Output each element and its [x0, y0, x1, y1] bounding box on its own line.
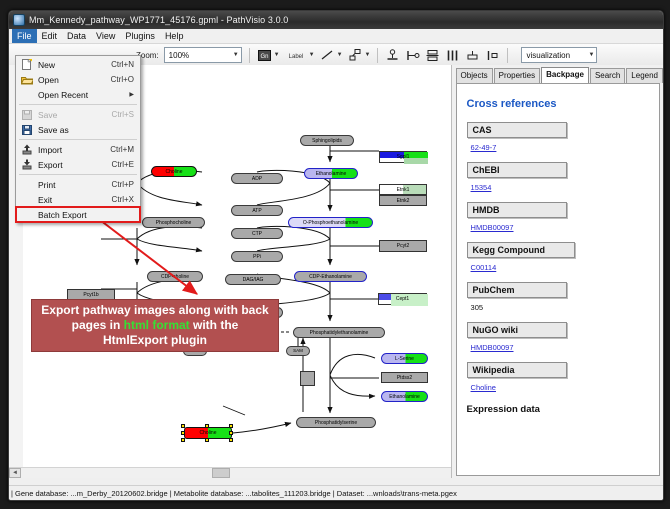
- status-text: | Gene database: ...m_Derby_20120602.bri…: [11, 489, 457, 498]
- node-choline-selected[interactable]: Choline: [184, 427, 232, 439]
- scrollbar-thumb[interactable]: [212, 468, 230, 478]
- node-label: Ptdss2: [397, 375, 412, 381]
- side-panel-tabs: Objects Properties Backpage Search Legen…: [452, 65, 663, 83]
- menu-edit[interactable]: Edit: [37, 29, 63, 43]
- side-panel: Objects Properties Backpage Search Legen…: [452, 65, 663, 478]
- node-label: Cept1: [379, 294, 426, 304]
- db-label-pubchem: PubChem: [467, 282, 567, 298]
- file-menu-item-exit[interactable]: Exit Ctrl+X: [16, 192, 140, 207]
- node-ctp[interactable]: CTP: [231, 228, 283, 239]
- node-label: ADP: [252, 176, 262, 182]
- node-label: O-Phosphoethanolamine: [303, 220, 358, 226]
- node-choline[interactable]: Choline: [151, 166, 197, 177]
- visualization-combobox[interactable]: visualization ▼: [521, 47, 597, 63]
- selection-handle[interactable]: [181, 431, 185, 435]
- file-menu-accel: Ctrl+S: [112, 110, 140, 119]
- db-value-kegg-compound[interactable]: C00114: [471, 263, 649, 272]
- db-value-cas[interactable]: 62-49-7: [471, 143, 649, 152]
- node-label: Ethanolamine: [316, 171, 347, 177]
- node-label: Phosphatidylethanolamine: [310, 330, 369, 336]
- callout-line2-b: with the: [190, 318, 239, 332]
- save-as-icon: [16, 125, 38, 135]
- callout-line2-highlight: html format: [124, 318, 190, 332]
- tab-objects[interactable]: Objects: [456, 68, 493, 83]
- chevron-down-icon: ▼: [233, 52, 239, 58]
- db-value-wikipedia[interactable]: Choline: [471, 383, 649, 392]
- tab-search[interactable]: Search: [590, 68, 625, 83]
- callout-line1: Export pathway images along with back: [41, 303, 268, 317]
- file-menu-label: Open: [38, 75, 111, 85]
- node-ptdss2[interactable]: Ptdss2: [381, 372, 428, 383]
- node-cept1[interactable]: Cept1: [378, 293, 427, 305]
- chevron-down-icon[interactable]: ▼: [337, 52, 343, 58]
- menu-separator: [19, 139, 137, 140]
- chevron-down-icon[interactable]: ▼: [309, 52, 315, 58]
- menu-file[interactable]: File: [12, 29, 37, 43]
- node-label: Pcyt1b: [83, 292, 98, 298]
- menu-data[interactable]: Data: [62, 29, 91, 43]
- file-menu-accel: Ctrl+P: [112, 180, 140, 189]
- menu-separator: [19, 104, 137, 105]
- file-menu-label: Open Recent: [38, 90, 129, 100]
- group-button[interactable]: [465, 48, 480, 63]
- file-menu-item-export[interactable]: Export Ctrl+E: [16, 157, 140, 172]
- chevron-down-icon: ▼: [589, 52, 595, 58]
- toolbar-separator: [507, 48, 508, 63]
- zoom-combobox[interactable]: 100% ▼: [164, 47, 242, 63]
- zoom-value: 100%: [169, 51, 189, 60]
- distribute-button[interactable]: [445, 48, 460, 63]
- scroll-left-arrow[interactable]: ◄: [9, 468, 21, 478]
- node-label: Etnk2: [397, 198, 410, 204]
- selection-handle[interactable]: [181, 438, 185, 442]
- line-tool-button[interactable]: [320, 48, 335, 63]
- file-menu-label: Save as: [38, 125, 134, 135]
- save-icon: [16, 110, 38, 120]
- file-menu-accel: Ctrl+N: [111, 60, 140, 69]
- node-ppi[interactable]: PPi: [231, 251, 283, 262]
- menu-bar: File Edit Data View Plugins Help: [9, 29, 663, 44]
- annotation-callout: Export pathway images along with back pa…: [31, 299, 279, 352]
- node-label: Ethanolamine: [389, 394, 420, 400]
- tab-legend[interactable]: Legend: [626, 68, 663, 83]
- pathvisio-window: Mm_Kennedy_pathway_WP1771_45176.gpml - P…: [8, 10, 664, 501]
- selection-handle[interactable]: [181, 424, 185, 428]
- open-folder-icon: [16, 75, 38, 85]
- export-icon: [16, 159, 38, 170]
- file-menu-item-print[interactable]: Print Ctrl+P: [16, 177, 140, 192]
- node-label: Etnk1: [397, 187, 410, 193]
- db-value-pubchem: 305: [471, 303, 649, 312]
- file-menu-label: Import: [38, 145, 110, 155]
- node-o-phosphoethanolamine[interactable]: O-Phosphoethanolamine: [288, 217, 373, 228]
- node-label: DAG/IAG: [243, 277, 264, 283]
- node-phosphatidylethanolamine[interactable]: Phosphatidylethanolamine: [293, 327, 385, 338]
- file-menu-item-open[interactable]: Open Ctrl+O: [16, 72, 140, 87]
- db-label-hmdb: HMDB: [467, 202, 567, 218]
- selection-handle[interactable]: [229, 431, 233, 435]
- node-anchor-block[interactable]: [300, 371, 315, 386]
- file-menu-label: Batch Export: [38, 210, 134, 220]
- node-label: Pcyt2: [397, 243, 410, 249]
- file-menu-label: Print: [38, 180, 112, 190]
- node-label: PPi: [253, 254, 261, 260]
- file-menu-label: New: [38, 60, 111, 70]
- node-sphingolipids[interactable]: Sphingolipids: [300, 135, 354, 146]
- expression-data-title: Expression data: [467, 404, 649, 415]
- node-label: Choline: [166, 169, 183, 175]
- node-phosphocholine[interactable]: Phosphocholine: [142, 217, 205, 228]
- node-l-serine[interactable]: L-Serine: [381, 353, 428, 364]
- node-ethanolamine-2[interactable]: Ethanolamine: [381, 391, 428, 402]
- selection-handle[interactable]: [205, 424, 209, 428]
- file-menu-item-new[interactable]: New Ctrl+N: [16, 57, 140, 72]
- menu-view[interactable]: View: [91, 29, 120, 43]
- file-menu-label: Save: [38, 110, 112, 120]
- node-sgpl1[interactable]: Sgpl1: [379, 151, 427, 163]
- chevron-down-icon[interactable]: ▼: [274, 52, 280, 58]
- node-etnk2[interactable]: Etnk2: [379, 195, 427, 206]
- node-adp[interactable]: ADP: [231, 173, 283, 184]
- node-label: Sgpl1: [380, 152, 426, 162]
- tab-properties[interactable]: Properties: [494, 68, 540, 83]
- node-label: L-Serine: [395, 356, 414, 362]
- stack-vertical-button[interactable]: [425, 48, 440, 63]
- node-cdp-choline[interactable]: CDP-choline: [147, 271, 203, 282]
- db-label-chebi: ChEBI: [467, 162, 567, 178]
- node-label: ATP: [252, 208, 261, 214]
- selection-handle[interactable]: [229, 438, 233, 442]
- app-icon: [13, 14, 25, 26]
- file-menu-item-import[interactable]: Import Ctrl+M: [16, 142, 140, 157]
- file-menu-accel: Ctrl+X: [112, 195, 140, 204]
- file-menu-accel: Ctrl+O: [111, 75, 140, 84]
- backpage-content: Cross references CAS 62-49-7 ChEBI 15354…: [456, 83, 660, 476]
- chevron-right-icon: ▶: [129, 91, 140, 98]
- chevron-down-icon[interactable]: ▼: [365, 52, 371, 58]
- file-menu-label: Export: [38, 160, 112, 170]
- toolbar-separator: [377, 48, 378, 63]
- selection-handle[interactable]: [205, 438, 209, 442]
- file-menu-dropdown[interactable]: New Ctrl+N Open Ctrl+O Open Recent ▶: [15, 55, 141, 223]
- title-bar: Mm_Kennedy_pathway_WP1771_45176.gpml - P…: [9, 11, 663, 29]
- node-cdp-ethanolamine[interactable]: CDP-Ethanolamine: [294, 271, 367, 282]
- svg-text:Gn: Gn: [260, 54, 268, 60]
- ungroup-button[interactable]: [485, 48, 500, 63]
- import-icon: [16, 144, 38, 155]
- visualization-value: visualization: [526, 51, 570, 60]
- node-label: CDP-choline: [161, 274, 189, 280]
- file-menu-item-save: Save Ctrl+S: [16, 107, 140, 122]
- node-phosphatidylserine[interactable]: Phosphatidylserine: [296, 417, 376, 428]
- toolbar-separator: [249, 48, 250, 63]
- align-left-button[interactable]: [405, 48, 420, 63]
- callout-line2-a: pages in: [72, 318, 124, 332]
- status-bar: | Gene database: ...m_Derby_20120602.bri…: [9, 485, 663, 500]
- db-label-kegg-compound: Kegg Compound: [467, 242, 575, 258]
- db-value-nugo-wiki[interactable]: HMDB00097: [471, 343, 649, 352]
- file-menu-item-open-recent[interactable]: Open Recent ▶: [16, 87, 140, 102]
- menu-help[interactable]: Help: [160, 29, 189, 43]
- label-shape-button[interactable]: Label: [285, 48, 307, 63]
- cross-references-title: Cross references: [467, 98, 649, 110]
- node-ethanolamine-1[interactable]: Ethanolamine: [304, 168, 358, 179]
- file-menu-item-save-as[interactable]: Save as: [16, 122, 140, 137]
- node-atp[interactable]: ATP: [231, 205, 283, 216]
- db-value-hmdb[interactable]: HMDB00097: [471, 223, 649, 232]
- menu-separator: [19, 174, 137, 175]
- file-menu-item-batch-export[interactable]: Batch Export: [16, 207, 140, 222]
- new-file-icon: [16, 59, 38, 70]
- node-pcyt2[interactable]: Pcyt2: [379, 240, 427, 252]
- tab-backpage[interactable]: Backpage: [541, 67, 589, 83]
- selection-handle[interactable]: [229, 424, 233, 428]
- node-label: Sphingolipids: [312, 138, 342, 144]
- db-value-chebi[interactable]: 15354: [471, 183, 649, 192]
- db-label-wikipedia: Wikipedia: [467, 362, 567, 378]
- window-title: Mm_Kennedy_pathway_WP1771_45176.gpml - P…: [29, 15, 288, 25]
- node-sam[interactable]: SAM: [286, 346, 310, 356]
- menu-plugins[interactable]: Plugins: [120, 29, 160, 43]
- file-menu-label: Exit: [38, 195, 112, 205]
- db-label-nugo-wiki: NuGO wiki: [467, 322, 567, 338]
- align-center-button[interactable]: [385, 48, 400, 63]
- node-label: CTP: [252, 231, 262, 237]
- horizontal-scrollbar[interactable]: ◄: [9, 467, 451, 478]
- node-etnk1[interactable]: Etnk1: [379, 184, 427, 195]
- db-label-cas: CAS: [467, 122, 567, 138]
- node-dag-iag[interactable]: DAG/IAG: [225, 274, 281, 285]
- node-label: SAM: [293, 348, 303, 354]
- screenshot-root: Mm_Kennedy_pathway_WP1771_45176.gpml - P…: [0, 0, 670, 509]
- file-menu-accel: Ctrl+E: [112, 160, 140, 169]
- datanode-shape-button[interactable]: Gn: [257, 48, 272, 63]
- interaction-tool-button[interactable]: [348, 48, 363, 63]
- node-label: Phosphocholine: [156, 220, 192, 226]
- callout-line3: HtmlExport plugin: [103, 333, 207, 347]
- node-label: Phosphatidylserine: [315, 420, 357, 426]
- svg-text:Label: Label: [288, 54, 303, 60]
- file-menu-accel: Ctrl+M: [110, 145, 140, 154]
- node-label: CDP-Ethanolamine: [309, 274, 352, 280]
